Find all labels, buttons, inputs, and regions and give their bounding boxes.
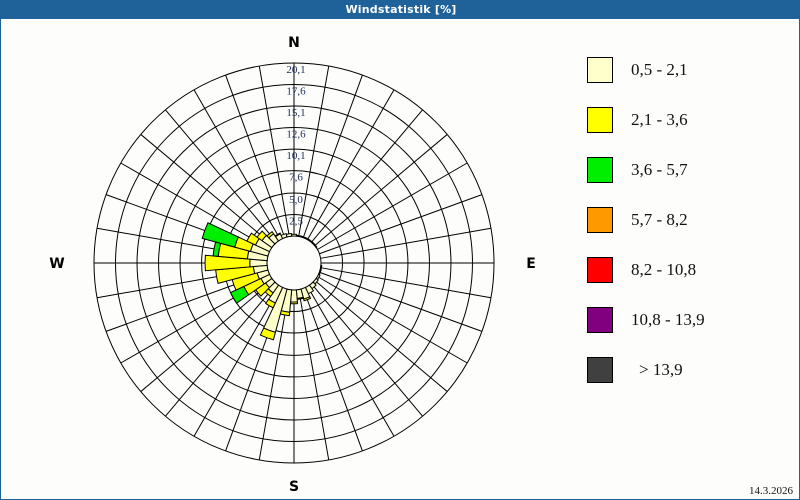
legend-item[interactable]: 5,7 - 8,2: [587, 195, 787, 245]
legend-swatch: [587, 257, 613, 283]
legend-swatch: [587, 307, 613, 333]
radial-tick-label: 7,6: [289, 172, 303, 184]
wind-rose-segment: [286, 234, 291, 237]
wind-rose-segment: [290, 302, 297, 304]
legend-item[interactable]: 3,6 - 5,7: [587, 145, 787, 195]
radial-tick-label: 17,6: [286, 86, 306, 98]
compass-label-west: W: [49, 256, 64, 272]
compass-label-north: N: [288, 35, 300, 51]
wind-rose-segment: [202, 223, 238, 247]
legend-item[interactable]: 8,2 - 10,8: [587, 245, 787, 295]
legend-item[interactable]: 2,1 - 3,6: [587, 95, 787, 145]
legend-label: 5,7 - 8,2: [631, 210, 688, 230]
radial-tick-labels: 2,55,07,610,112,615,117,620,1: [286, 64, 306, 228]
legend-swatch: [587, 107, 613, 133]
radial-tick-label: 12,6: [286, 129, 306, 141]
legend-label: 3,6 - 5,7: [631, 160, 688, 180]
wind-rose-segment: [296, 235, 301, 237]
window-content: 2,55,07,610,112,615,117,620,1 N E S W 0,…: [1, 19, 800, 500]
legend-item[interactable]: > 13,9: [587, 345, 787, 395]
wind-rose-segment: [320, 265, 322, 270]
legend-swatch: [587, 207, 613, 233]
compass-label-south: S: [289, 479, 299, 495]
speed-bin-legend: 0,5 - 2,12,1 - 3,63,6 - 5,75,7 - 8,28,2 …: [587, 45, 787, 395]
legend-item[interactable]: 0,5 - 2,1: [587, 45, 787, 95]
window-title: Windstatistik [%]: [345, 3, 456, 16]
radial-tick-label: 2,5: [289, 216, 303, 228]
legend-item[interactable]: 10,8 - 13,9: [587, 295, 787, 345]
wind-rose-chart: 2,55,07,610,112,615,117,620,1 N E S W: [1, 19, 567, 500]
radial-tick-label: 15,1: [286, 107, 305, 119]
wind-statistics-window: Windstatistik [%] 2,55,07,610,112,615,11…: [0, 0, 800, 500]
legend-label: 2,1 - 3,6: [631, 110, 688, 130]
legend-label: 0,5 - 2,1: [631, 60, 688, 80]
legend-swatch: [587, 57, 613, 83]
wind-rose-petals: [202, 223, 322, 340]
compass-labels: N E S W: [49, 35, 536, 495]
compass-label-east: E: [526, 256, 536, 272]
polar-grid: [94, 63, 494, 463]
radial-tick-label: 20,1: [286, 64, 305, 76]
window-title-bar: Windstatistik [%]: [1, 1, 800, 19]
legend-swatch: [587, 357, 613, 383]
radial-tick-label: 5,0: [289, 194, 303, 206]
legend-label: 10,8 - 13,9: [631, 310, 705, 330]
legend-swatch: [587, 157, 613, 183]
legend-label: > 13,9: [639, 360, 683, 380]
date-stamp: 14.3.2026: [749, 485, 793, 497]
radial-tick-label: 10,1: [286, 150, 305, 162]
legend-label: 8,2 - 10,8: [631, 260, 696, 280]
wind-rose-panel: 2,55,07,610,112,615,117,620,1 N E S W: [1, 19, 567, 500]
wind-rose-segment: [292, 234, 297, 236]
